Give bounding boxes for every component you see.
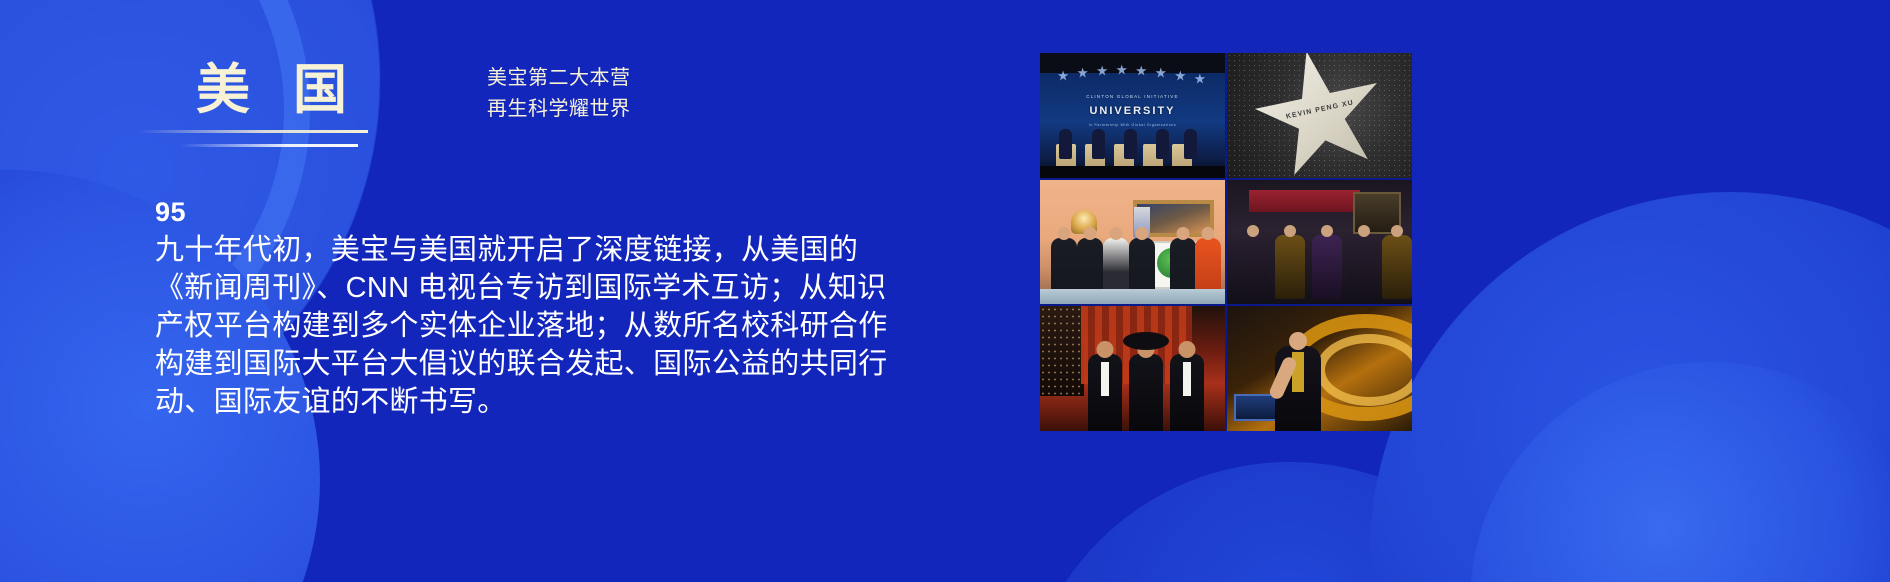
body-number: 95 <box>155 195 915 229</box>
body-paragraph: 九十年代初，美宝与美国就开启了深度链接，从美国的《新闻周刊》、CNN 电视台专访… <box>155 231 915 421</box>
stage-floor <box>1040 166 1225 177</box>
ceremony-banner <box>1249 190 1360 212</box>
robed-person <box>1275 235 1305 300</box>
stage-seating <box>1047 120 1217 170</box>
background-swirl-bottom-right-inner <box>1470 362 1890 582</box>
cgi-banner-title: UNIVERSITY <box>1040 105 1225 117</box>
title-rule-upper <box>138 130 368 133</box>
guest <box>1129 354 1163 431</box>
person <box>1129 238 1155 297</box>
body-block: 95 九十年代初，美宝与美国就开启了深度链接，从美国的《新闻周刊》、CNN 电视… <box>155 195 915 421</box>
photo-collage: CLINTON GLOBAL INITIATIVE UNIVERSITY In … <box>1040 53 1412 431</box>
title-rule-lower <box>180 144 358 147</box>
robed-person <box>1382 235 1412 300</box>
photo-hollywood-walk-of-fame-star: KEVIN PENG XU <box>1227 53 1412 178</box>
graduate-gown <box>1275 346 1321 431</box>
guest <box>1170 354 1204 431</box>
photo-award-ceremony-group <box>1040 180 1225 305</box>
photo-commencement-hall <box>1227 180 1412 305</box>
guest <box>1088 354 1122 431</box>
photo-convocation-stage <box>1227 306 1412 431</box>
foreground-table <box>1040 289 1225 304</box>
cgi-banner-subtitle: CLINTON GLOBAL INITIATIVE <box>1040 94 1225 99</box>
header: 美 国 美宝第二大本营 再生科学耀世界 <box>0 0 1890 175</box>
photo-red-carpet-gala <box>1040 306 1225 431</box>
robed-person <box>1349 235 1379 300</box>
photo-clinton-global-initiative-university: CLINTON GLOBAL INITIATIVE UNIVERSITY In … <box>1040 53 1225 178</box>
background-swirl-bottom-right <box>1370 192 1890 582</box>
page-title: 美 国 <box>196 63 361 117</box>
robed-person <box>1238 235 1268 300</box>
slide-canvas: 美 国 美宝第二大本营 再生科学耀世界 95 九十年代初，美宝与美国就开启了深度… <box>0 0 1890 582</box>
decorative-stars <box>1051 70 1214 86</box>
person <box>1170 238 1196 297</box>
city-backdrop <box>1040 306 1084 396</box>
wide-brim-hat <box>1123 332 1169 350</box>
person <box>1051 238 1077 297</box>
person <box>1195 238 1221 297</box>
person <box>1103 238 1129 297</box>
header-subtitle: 美宝第二大本营 再生科学耀世界 <box>487 63 631 125</box>
background-swirl-bottom-mid <box>1020 462 1560 582</box>
robed-person <box>1312 235 1342 300</box>
person <box>1077 238 1103 297</box>
